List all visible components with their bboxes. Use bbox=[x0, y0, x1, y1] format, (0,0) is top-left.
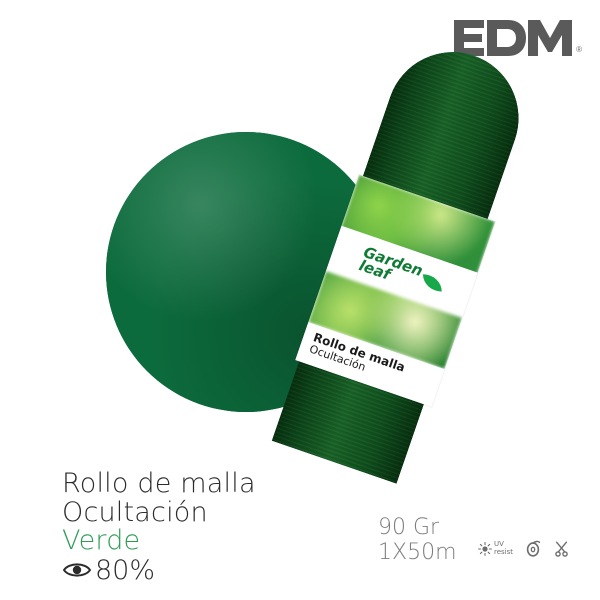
shading-percentage-row: 80% bbox=[62, 557, 322, 584]
product-title-line-1: Rollo de malla bbox=[62, 470, 322, 499]
product-color-name: Verde bbox=[62, 527, 322, 556]
feature-uv-resist: UV resist bbox=[478, 541, 513, 555]
product-specs-block: 90 Gr 1X50m bbox=[378, 515, 457, 566]
spec-weight: 90 Gr bbox=[378, 515, 457, 540]
eye-icon bbox=[62, 559, 92, 581]
leaf-icon bbox=[423, 274, 442, 291]
uv-resist-label: UV resist bbox=[494, 541, 513, 555]
feature-cuttable bbox=[554, 541, 569, 557]
product-image-canvas: ® Garden leaf Rollo de malla Ocult bbox=[0, 0, 600, 600]
scissors-icon bbox=[554, 541, 569, 557]
uv-resist-line-2: resist bbox=[494, 549, 513, 556]
registered-trademark-symbol: ® bbox=[576, 46, 582, 54]
shading-percentage-value: 80% bbox=[95, 557, 155, 584]
spec-dimensions: 1X50m bbox=[378, 540, 457, 565]
product-title-line-2: Ocultación bbox=[62, 499, 322, 528]
edm-brand-logo: ® bbox=[454, 18, 582, 58]
feature-icon-strip: UV resist bbox=[478, 540, 569, 557]
sun-uv-icon bbox=[478, 542, 492, 556]
product-roll: Garden leaf Rollo de malla Ocultación bbox=[272, 34, 600, 538]
roll-icon bbox=[526, 540, 541, 557]
edm-logo-mark bbox=[454, 18, 574, 58]
feature-roll bbox=[526, 540, 541, 557]
product-info-block: Rollo de malla Ocultación Verde 80% bbox=[62, 470, 322, 584]
